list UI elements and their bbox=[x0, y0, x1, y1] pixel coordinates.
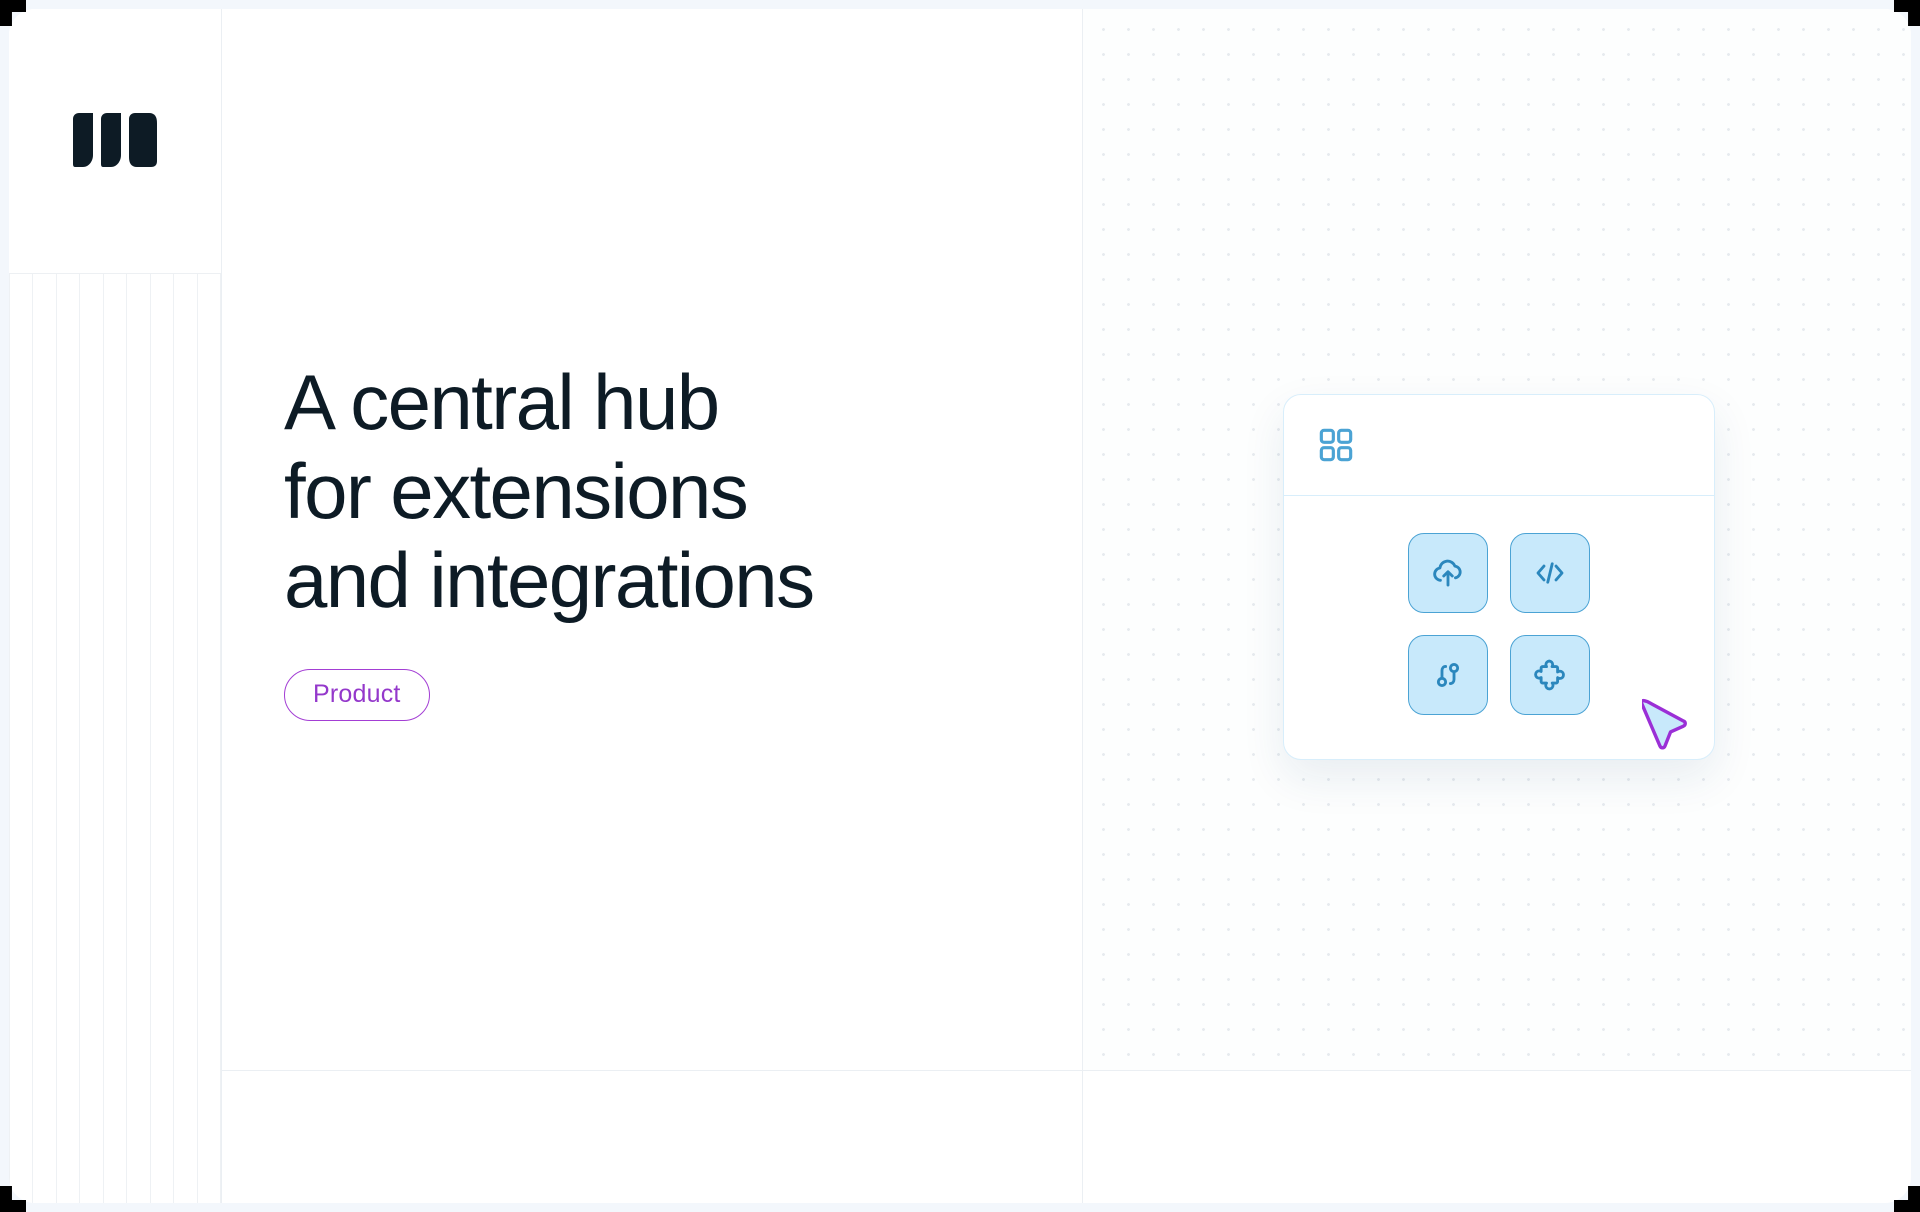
rail-line bbox=[33, 274, 56, 1203]
hero-tag-row: Product bbox=[284, 669, 1082, 721]
rail-line bbox=[57, 274, 80, 1203]
cloud-upload-icon bbox=[1429, 554, 1467, 592]
grid-icon bbox=[1316, 425, 1356, 465]
page-card: A central hub for extensions and integra… bbox=[9, 9, 1911, 1203]
rail-decorative-lines bbox=[9, 274, 221, 1203]
screenshot-stage: A central hub for extensions and integra… bbox=[0, 0, 1920, 1212]
vertical-divider-middle bbox=[1082, 9, 1083, 1203]
illustration-panel bbox=[1083, 9, 1911, 1070]
left-rail bbox=[9, 9, 221, 1203]
code-brackets-icon bbox=[1531, 554, 1569, 592]
rail-line bbox=[174, 274, 197, 1203]
extensions-widget-card bbox=[1283, 394, 1715, 760]
rail-line bbox=[198, 274, 221, 1203]
hero-section: A central hub for extensions and integra… bbox=[222, 9, 1082, 1070]
tile-git-branch[interactable] bbox=[1408, 635, 1488, 715]
rail-line bbox=[151, 274, 174, 1203]
rail-line bbox=[9, 274, 33, 1203]
logo-cell[interactable] bbox=[9, 9, 221, 274]
puzzle-piece-icon bbox=[1531, 656, 1569, 694]
rail-line bbox=[127, 274, 150, 1203]
integration-tile-grid bbox=[1408, 533, 1590, 715]
rail-line bbox=[104, 274, 127, 1203]
category-badge-product[interactable]: Product bbox=[284, 669, 430, 721]
vertical-divider-rail bbox=[221, 9, 222, 1203]
page-title: A central hub for extensions and integra… bbox=[284, 358, 1024, 625]
widget-header bbox=[1284, 395, 1714, 496]
rail-line bbox=[80, 274, 103, 1203]
tile-cloud-upload[interactable] bbox=[1408, 533, 1488, 613]
horizontal-divider bbox=[221, 1070, 1911, 1071]
tile-code[interactable] bbox=[1510, 533, 1590, 613]
git-branch-icon bbox=[1429, 656, 1467, 694]
tile-puzzle[interactable] bbox=[1510, 635, 1590, 715]
mouse-cursor-icon bbox=[1642, 689, 1698, 751]
company-logo bbox=[59, 105, 171, 177]
widget-body bbox=[1284, 496, 1714, 759]
